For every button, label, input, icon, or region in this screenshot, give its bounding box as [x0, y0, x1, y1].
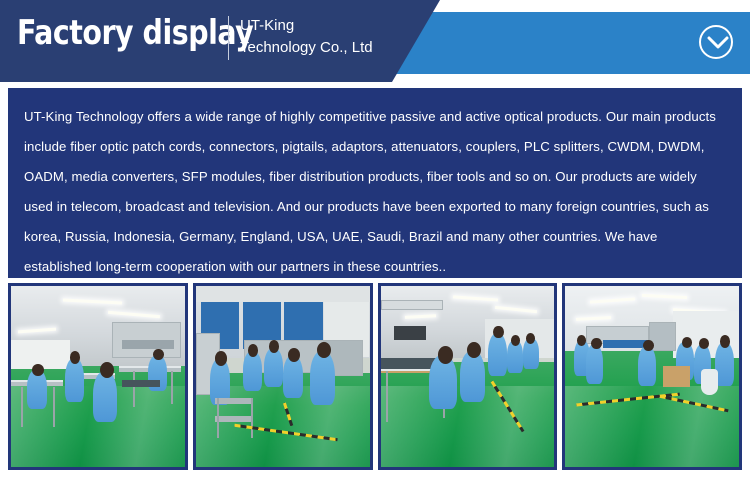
company-intro-text: UT-King Technology offers a wide range o… [24, 102, 726, 282]
factory-display-page: Factory display UT-King Technology Co., … [0, 0, 750, 501]
company-name-line1: UT-King [240, 15, 373, 37]
factory-photo-1-scene [11, 286, 185, 467]
factory-photo-4-scene [565, 286, 739, 467]
factory-photo-strip [8, 283, 742, 470]
company-intro-panel: UT-King Technology offers a wide range o… [8, 88, 742, 278]
chevron-down-glyph [707, 35, 729, 51]
company-name-line2: Technology Co., Ltd [240, 37, 373, 59]
factory-photo-2-scene [196, 286, 370, 467]
factory-photo-1[interactable] [8, 283, 188, 470]
chevron-down-icon[interactable] [699, 25, 733, 59]
title-divider [228, 16, 229, 60]
company-name: UT-King Technology Co., Ltd [240, 15, 373, 59]
factory-photo-4[interactable] [562, 283, 742, 470]
factory-photo-3[interactable] [378, 283, 558, 470]
page-header: Factory display UT-King Technology Co., … [0, 0, 750, 82]
factory-photo-2[interactable] [193, 283, 373, 470]
page-title: Factory display [17, 13, 253, 53]
factory-photo-3-scene [381, 286, 555, 467]
